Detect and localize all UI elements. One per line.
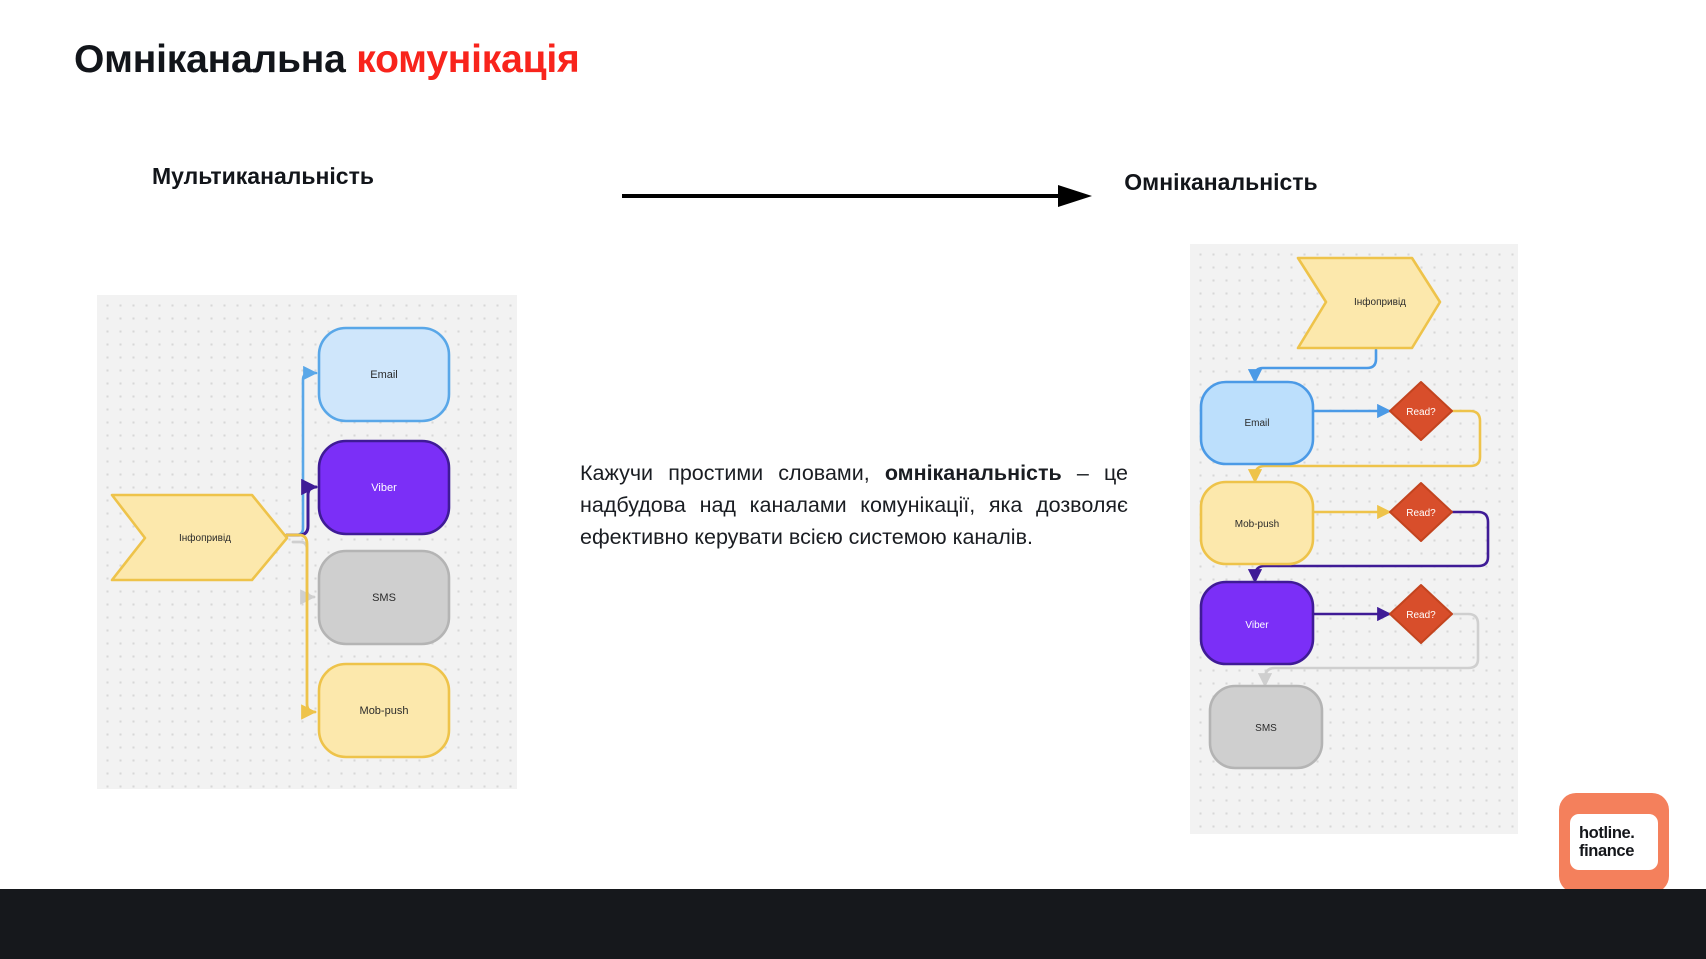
logo-text: hotline. finance xyxy=(1570,814,1658,870)
node-label-viber: Viber xyxy=(371,482,397,494)
node-label-infopryvid: Інфопривід xyxy=(179,532,231,544)
node-email: Email xyxy=(319,328,449,421)
heading-multichannel: Мультиканальність xyxy=(152,163,374,190)
connector-start-to-email xyxy=(1255,350,1376,382)
hotline-finance-logo[interactable]: hotline. finance xyxy=(1559,793,1669,893)
connector-to-viber xyxy=(287,487,316,535)
decision-email-read: Read? xyxy=(1390,382,1452,440)
node-label-infopryvid: Інфопривід xyxy=(1354,296,1406,308)
logo-line-2: finance xyxy=(1579,842,1658,860)
page-title: Омніканальна комунікація xyxy=(74,38,580,82)
node-label-sms: SMS xyxy=(1255,723,1277,734)
node-sms: SMS xyxy=(1210,686,1322,768)
footer-bar xyxy=(0,889,1706,959)
node-viber: Viber xyxy=(319,441,449,534)
decision-label-email: Read? xyxy=(1406,407,1436,418)
connector-to-email xyxy=(287,373,316,535)
node-label-email: Email xyxy=(1244,418,1269,429)
connector-to-mobpush xyxy=(287,535,315,712)
node-label-mobpush: Mob-push xyxy=(360,705,409,717)
body-text-term: омніканальність xyxy=(885,461,1062,485)
node-viber: Viber xyxy=(1201,582,1313,664)
logo-plate: hotline. finance xyxy=(1570,814,1658,870)
node-email: Email xyxy=(1201,382,1313,464)
page-title-black: Омніканальна xyxy=(74,38,356,81)
node-label-mobpush: Mob-push xyxy=(1235,519,1279,530)
logo-line-1: hotline. xyxy=(1579,824,1658,842)
multichannel-diagram: Інфопривід Email Viber SMS Mob-push xyxy=(97,295,517,789)
heading-omnichannel: Омніканальність xyxy=(1124,169,1317,196)
decision-viber-read: Read? xyxy=(1390,585,1452,643)
progress-arrow xyxy=(622,182,1092,210)
node-label-viber: Viber xyxy=(1245,620,1269,631)
node-infopryvid: Інфопривід xyxy=(112,495,287,580)
decision-label-viber: Read? xyxy=(1406,610,1436,621)
decision-label-mobpush: Read? xyxy=(1406,508,1436,519)
connector-to-sms xyxy=(293,542,314,597)
decision-mobpush-read: Read? xyxy=(1390,483,1452,541)
body-paragraph: Кажучи простими словами, омніканальність… xyxy=(580,457,1128,553)
node-infopryvid: Інфопривід xyxy=(1298,258,1440,348)
body-text-lead: Кажучи простими словами, xyxy=(580,461,885,485)
node-label-email: Email xyxy=(370,369,398,381)
node-label-sms: SMS xyxy=(372,592,396,604)
slide-root: Омніканальна комунікація Мультиканальніс… xyxy=(0,0,1706,959)
node-sms: SMS xyxy=(319,551,449,644)
page-title-accent: комунікація xyxy=(356,38,579,81)
node-mobpush: Mob-push xyxy=(319,664,449,757)
node-mobpush: Mob-push xyxy=(1201,482,1313,564)
omnichannel-diagram: Інфопривід Email Read? Mob-push Read? xyxy=(1190,244,1518,834)
